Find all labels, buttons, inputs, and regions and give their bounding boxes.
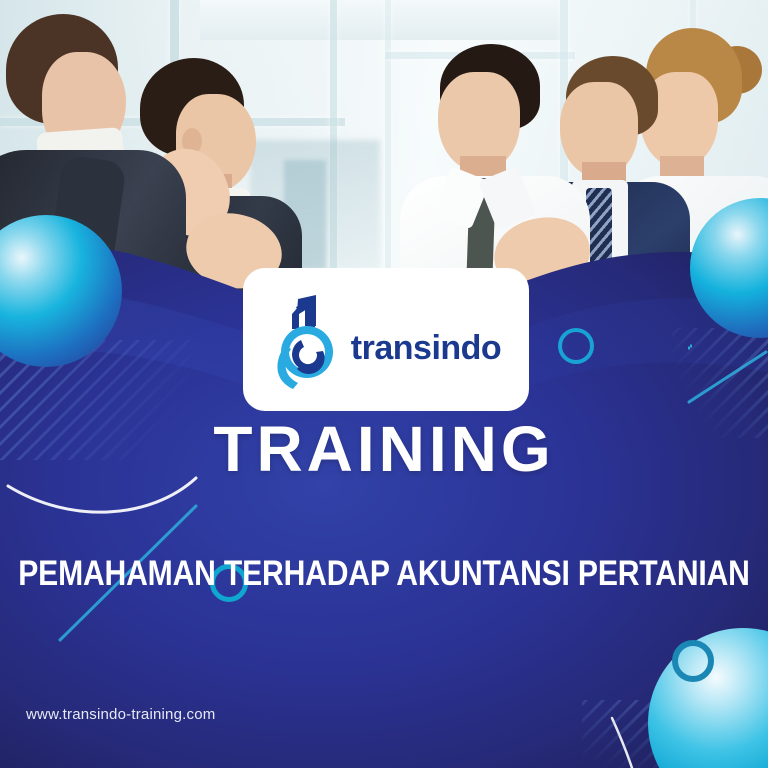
cyan-ring-icon-bottom-right: [672, 640, 714, 682]
logo-card: transindo: [243, 268, 529, 411]
course-subtitle: PEMAHAMAN TERHADAP AKUNTANSI PERTANIAN: [18, 552, 749, 596]
website-url: www.transindo-training.com: [26, 706, 215, 723]
logo-wordmark: transindo: [351, 331, 501, 365]
cyan-ring-icon-top-right: [558, 328, 594, 364]
training-poster: transindo TRAINING PEMAHAMAN TERHADAP AK…: [0, 0, 768, 768]
subtitle-container: PEMAHAMAN TERHADAP AKUNTANSI PERTANIAN: [0, 552, 768, 596]
page-title: TRAINING: [0, 417, 768, 481]
transindo-swoosh-one-logo-icon: [271, 293, 345, 389]
